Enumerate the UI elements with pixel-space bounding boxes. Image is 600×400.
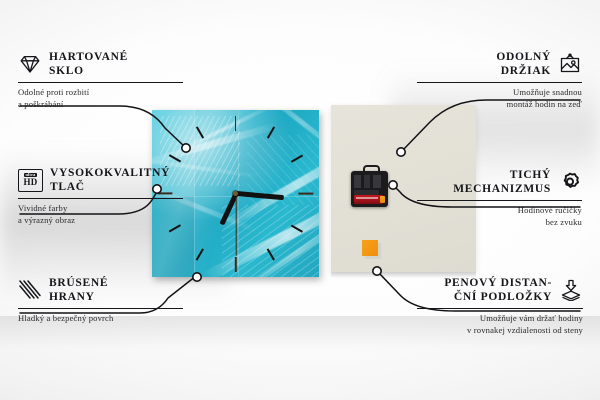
feature-title-line1: BRÚSENÉ (49, 277, 108, 289)
feature-title-line1: TICHÝ (510, 169, 551, 181)
feature-desc-line1: Hladký a bezpečný povrch (18, 313, 113, 323)
feature-divider (417, 82, 582, 83)
feature-title: BRÚSENÉ HRANY (49, 276, 108, 304)
feature-title-line1: PENOVÝ DISTAN- (444, 277, 552, 289)
feature-divider (417, 200, 582, 201)
feature-desc-line1: Vividné farby (18, 203, 67, 213)
connector-dot-right-1 (397, 148, 405, 156)
feature-title: TICHÝ MECHANIZMUS (453, 168, 551, 196)
feature-heading: BRÚSENÉ HRANY (18, 276, 183, 304)
feature-desc-line1: Odolné proti rozbití (18, 87, 89, 97)
feature-title-line1: ODOLNÝ (496, 51, 551, 63)
connector-dot-right-2 (389, 181, 397, 189)
feature-hardened-glass: HARTOVANÉ SKLO Odolné proti rozbití a po… (18, 50, 183, 110)
feature-high-quality-print: ultra HD VYSOKOKVALITNÝ TLAČ Vividné far… (18, 166, 183, 226)
connector-dot-left-3 (193, 273, 201, 281)
feature-divider (417, 308, 583, 309)
feature-heading: TICHÝ MECHANIZMUS (417, 168, 582, 196)
feature-polished-edges: BRÚSENÉ HRANY Hladký a bezpečný povrch (18, 276, 183, 325)
feature-heading: PENOVÝ DISTAN- ČNÍ PODLOŽKY (417, 276, 583, 304)
feature-durable-hanger: ODOLNÝ DRŽIAK Umožňuje snadnou montáž ho… (417, 50, 582, 110)
feature-title-line2: HRANY (49, 291, 95, 303)
feature-desc-line2: montáž hodin na zeď (507, 99, 582, 109)
connector-dot-left-1 (182, 144, 190, 152)
connector-dot-right-3 (373, 267, 381, 275)
feature-description: Umožňuje snadnou montáž hodin na zeď (417, 87, 582, 109)
feature-desc-line1: Umožňuje vám držať hodiny (480, 313, 583, 323)
feature-desc-line2: a poškrábání (18, 99, 63, 109)
product-infographic: HARTOVANÉ SKLO Odolné proti rozbití a po… (0, 0, 600, 400)
feature-title: ODOLNÝ DRŽIAK (496, 50, 551, 78)
gear-icon (558, 171, 582, 193)
feature-divider (18, 198, 183, 199)
feature-heading: ODOLNÝ DRŽIAK (417, 50, 582, 78)
feature-desc-line1: Umožňuje snadnou (513, 87, 582, 97)
foam-spacer-icon (559, 279, 583, 301)
feature-desc-line2: a výrazný obraz (18, 215, 75, 225)
feature-desc-line1: Hodinové ručičky (518, 205, 582, 215)
feature-title-line2: SKLO (49, 65, 84, 77)
feature-description: Hodinové ručičky bez zvuku (417, 205, 582, 227)
feature-title-line2: ČNÍ PODLOŽKY (454, 291, 552, 303)
feature-silent-mechanism: TICHÝ MECHANIZMUS Hodinové ručičky bez z… (417, 168, 582, 228)
feature-description: Odolné proti rozbití a poškrábání (18, 87, 183, 109)
brushed-edges-icon (18, 279, 42, 301)
feature-title-line1: VYSOKOKVALITNÝ (50, 167, 170, 179)
feature-heading: ultra HD VYSOKOKVALITNÝ TLAČ (18, 166, 183, 194)
feature-title: PENOVÝ DISTAN- ČNÍ PODLOŽKY (444, 276, 552, 304)
feature-title: HARTOVANÉ SKLO (49, 50, 128, 78)
feature-title-line2: TLAČ (50, 181, 85, 193)
feature-desc-line2: bez zvuku (546, 217, 582, 227)
feature-title-line2: DRŽIAK (501, 65, 551, 77)
feature-desc-line2: v rovnakej vzdialenosti od steny (467, 325, 583, 335)
feature-divider (18, 308, 183, 309)
feature-title: VYSOKOKVALITNÝ TLAČ (50, 166, 170, 194)
connector-line-left-1 (20, 106, 185, 147)
feature-description: Hladký a bezpečný povrch (18, 313, 183, 324)
diamond-icon (18, 53, 42, 75)
feature-foam-spacers: PENOVÝ DISTAN- ČNÍ PODLOŽKY Umožňuje vám… (417, 276, 583, 336)
feature-divider (18, 82, 183, 83)
feature-heading: HARTOVANÉ SKLO (18, 50, 183, 78)
feature-title-line1: HARTOVANÉ (49, 51, 128, 63)
feature-description: Vividné farby a výrazný obraz (18, 203, 183, 225)
ultra-hd-icon: ultra HD (18, 169, 43, 192)
picture-hanger-icon (558, 53, 582, 75)
feature-title-line2: MECHANIZMUS (453, 183, 551, 195)
feature-description: Umožňuje vám držať hodiny v rovnakej vzd… (417, 313, 583, 335)
ultra-hd-large-label: HD (24, 178, 38, 187)
